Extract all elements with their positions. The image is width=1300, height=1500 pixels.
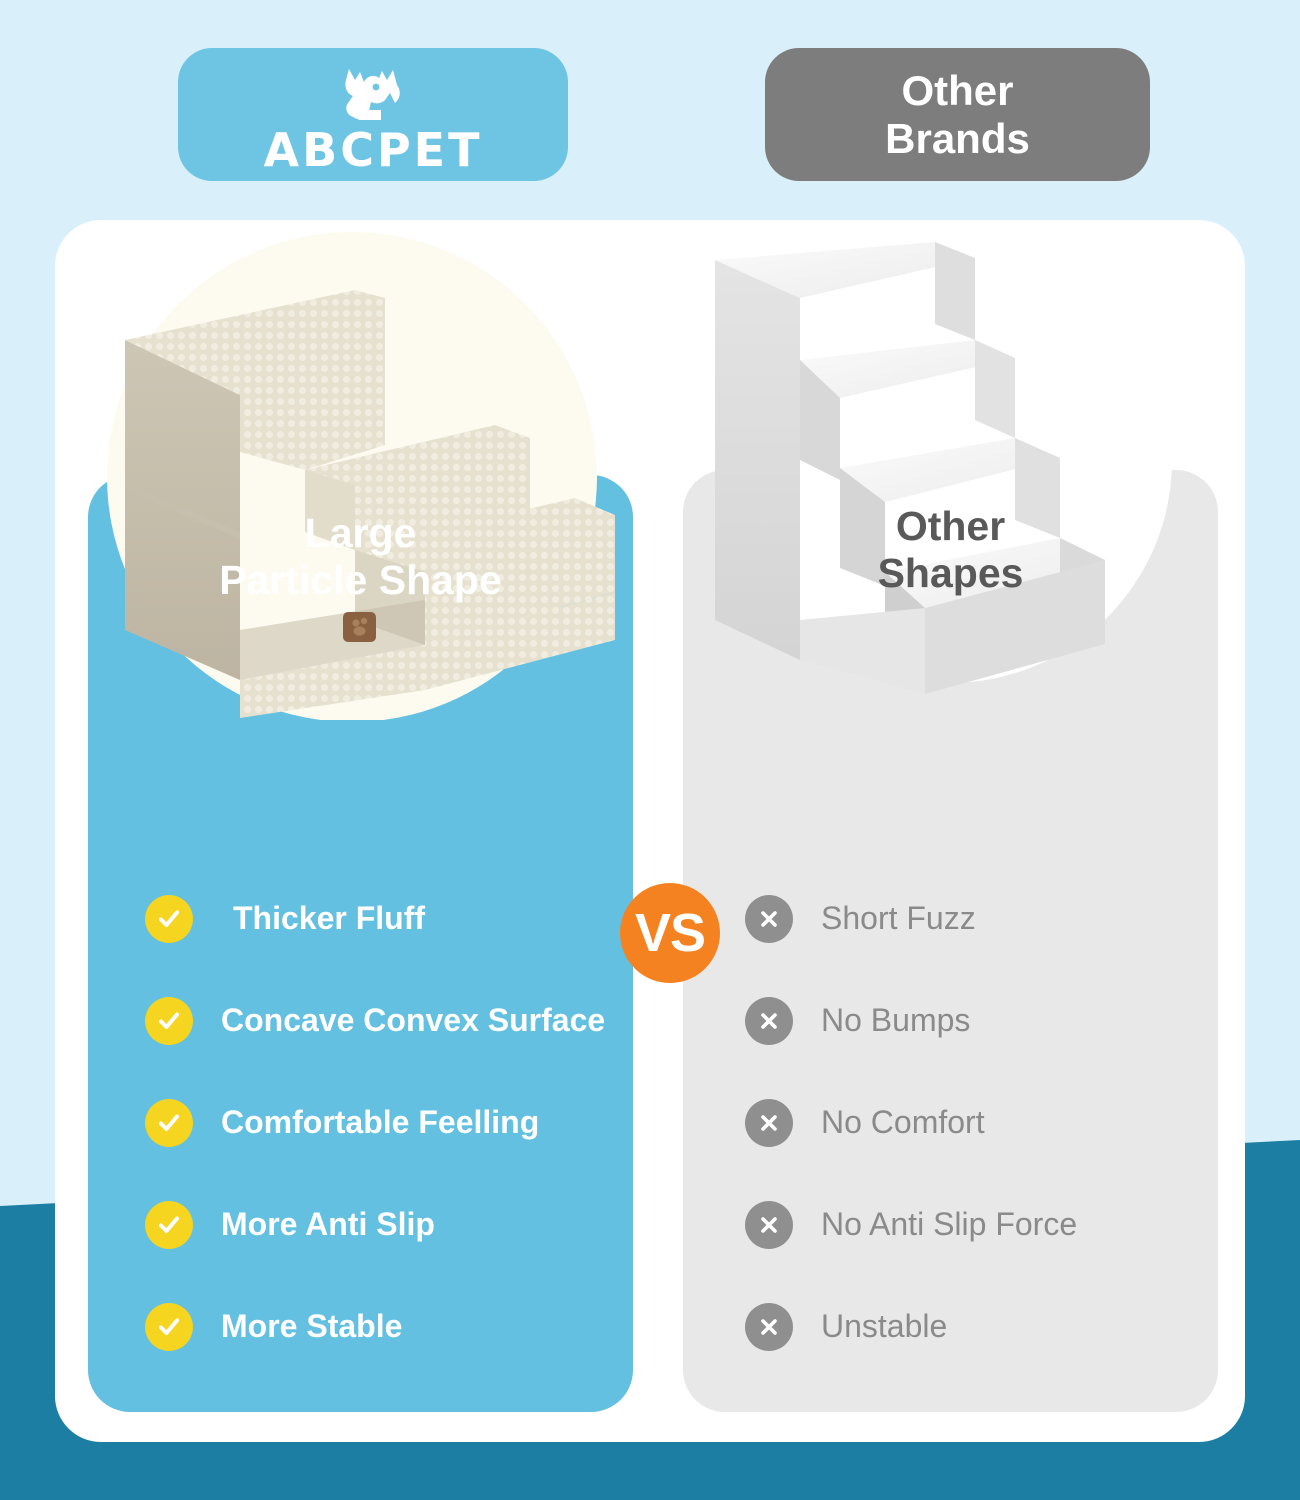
feature-label: Comfortable Feelling [207, 1104, 539, 1141]
left-product-image [55, 220, 675, 720]
feature-label: Thicker Fluff [207, 900, 425, 937]
x-icon [745, 1303, 793, 1351]
feature-label: Concave Convex Surface [207, 1002, 605, 1039]
feature-label: No Anti Slip Force [807, 1206, 1077, 1243]
check-icon [145, 1099, 193, 1147]
feature-label: No Comfort [807, 1104, 985, 1141]
left-heading-line1: Large [88, 510, 633, 557]
feature-label: Unstable [807, 1308, 947, 1345]
right-heading-line1: Other [683, 503, 1218, 550]
list-item: Thicker Fluff [145, 868, 615, 970]
check-icon [145, 1303, 193, 1351]
pet-head-logo-icon [335, 63, 411, 125]
feature-label: More Stable [207, 1308, 402, 1345]
right-heading-line2: Shapes [683, 550, 1218, 597]
x-icon [745, 997, 793, 1045]
check-icon [145, 895, 193, 943]
right-feature-list: Short Fuzz No Bumps No Comfort No Anti S… [745, 868, 1215, 1378]
left-feature-list: Thicker Fluff Concave Convex Surface Com… [145, 868, 615, 1378]
check-icon [145, 997, 193, 1045]
list-item: Concave Convex Surface [145, 970, 615, 1072]
comparison-infographic: ABCPET Other Brands [0, 0, 1300, 1500]
comparison-columns: Large Particle Shape Other Shapes Thicke… [55, 220, 1245, 1442]
competitor-header-pill: Other Brands [765, 48, 1150, 181]
check-icon [145, 1201, 193, 1249]
list-item: No Anti Slip Force [745, 1174, 1215, 1276]
vs-label: VS [635, 906, 705, 960]
left-heading: Large Particle Shape [88, 510, 633, 603]
feature-label: Short Fuzz [807, 900, 976, 937]
x-icon [745, 1201, 793, 1249]
list-item: No Comfort [745, 1072, 1215, 1174]
x-icon [745, 895, 793, 943]
feature-label: No Bumps [807, 1002, 970, 1039]
left-heading-line2: Particle Shape [88, 557, 633, 604]
right-product-image [675, 220, 1245, 720]
right-heading: Other Shapes [683, 503, 1218, 596]
list-item: Comfortable Feelling [145, 1072, 615, 1174]
list-item: More Anti Slip [145, 1174, 615, 1276]
competitor-header-line1: Other [901, 67, 1013, 114]
x-icon [745, 1099, 793, 1147]
list-item: More Stable [145, 1276, 615, 1378]
feature-label: More Anti Slip [207, 1206, 435, 1243]
header-row: ABCPET Other Brands [0, 0, 1300, 220]
competitor-header-line2: Brands [885, 115, 1030, 162]
brand-header-pill: ABCPET [178, 48, 568, 181]
vs-badge: VS [620, 883, 720, 983]
list-item: Short Fuzz [745, 868, 1215, 970]
brand-name-label: ABCPET [264, 127, 483, 173]
list-item: No Bumps [745, 970, 1215, 1072]
list-item: Unstable [745, 1276, 1215, 1378]
